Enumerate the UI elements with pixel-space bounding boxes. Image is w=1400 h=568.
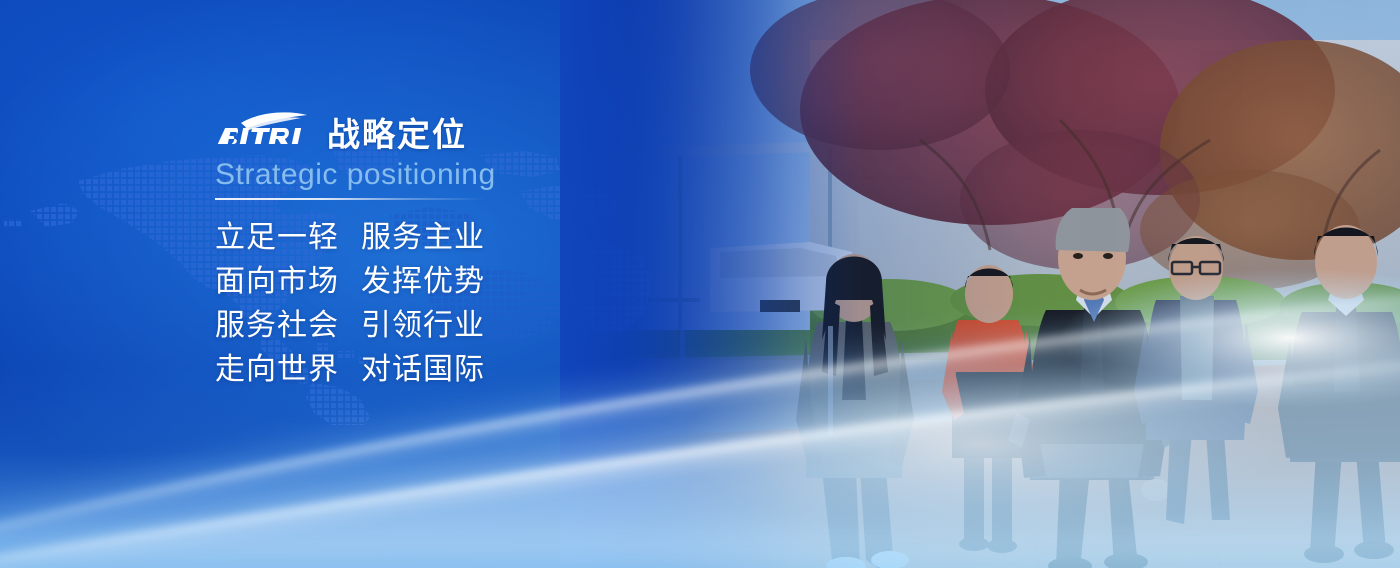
slogan-left: 立足一轻 <box>215 221 339 254</box>
banner-content: 战略定位 Strategic positioning 立足一轻服务主业 面向市场… <box>215 108 635 392</box>
slogan-list: 立足一轻服务主业 面向市场发挥优势 服务社会引领行业 走向世界对话国际 <box>215 216 635 392</box>
slogan-right: 发挥优势 <box>361 265 485 298</box>
slogan-right: 对话国际 <box>361 353 485 386</box>
slogan-line: 立足一轻服务主业 <box>215 216 635 260</box>
slogan-left: 服务社会 <box>215 309 339 342</box>
page-subtitle: Strategic positioning <box>215 158 635 192</box>
people-walking-photo <box>560 0 1400 568</box>
strategic-positioning-banner: 战略定位 Strategic positioning 立足一轻服务主业 面向市场… <box>0 0 1400 568</box>
page-title: 战略定位 <box>327 118 467 152</box>
title-divider <box>215 198 485 200</box>
slogan-line: 面向市场发挥优势 <box>215 260 635 304</box>
slogan-line: 服务社会引领行业 <box>215 304 635 348</box>
title-row: 战略定位 <box>215 108 635 152</box>
slogan-right: 引领行业 <box>361 309 485 342</box>
slogan-right: 服务主业 <box>361 221 485 254</box>
slogan-left: 走向世界 <box>215 353 339 386</box>
slogan-line: 走向世界对话国际 <box>215 348 635 392</box>
slogan-left: 面向市场 <box>215 265 339 298</box>
bitri-logo[interactable] <box>215 110 313 152</box>
